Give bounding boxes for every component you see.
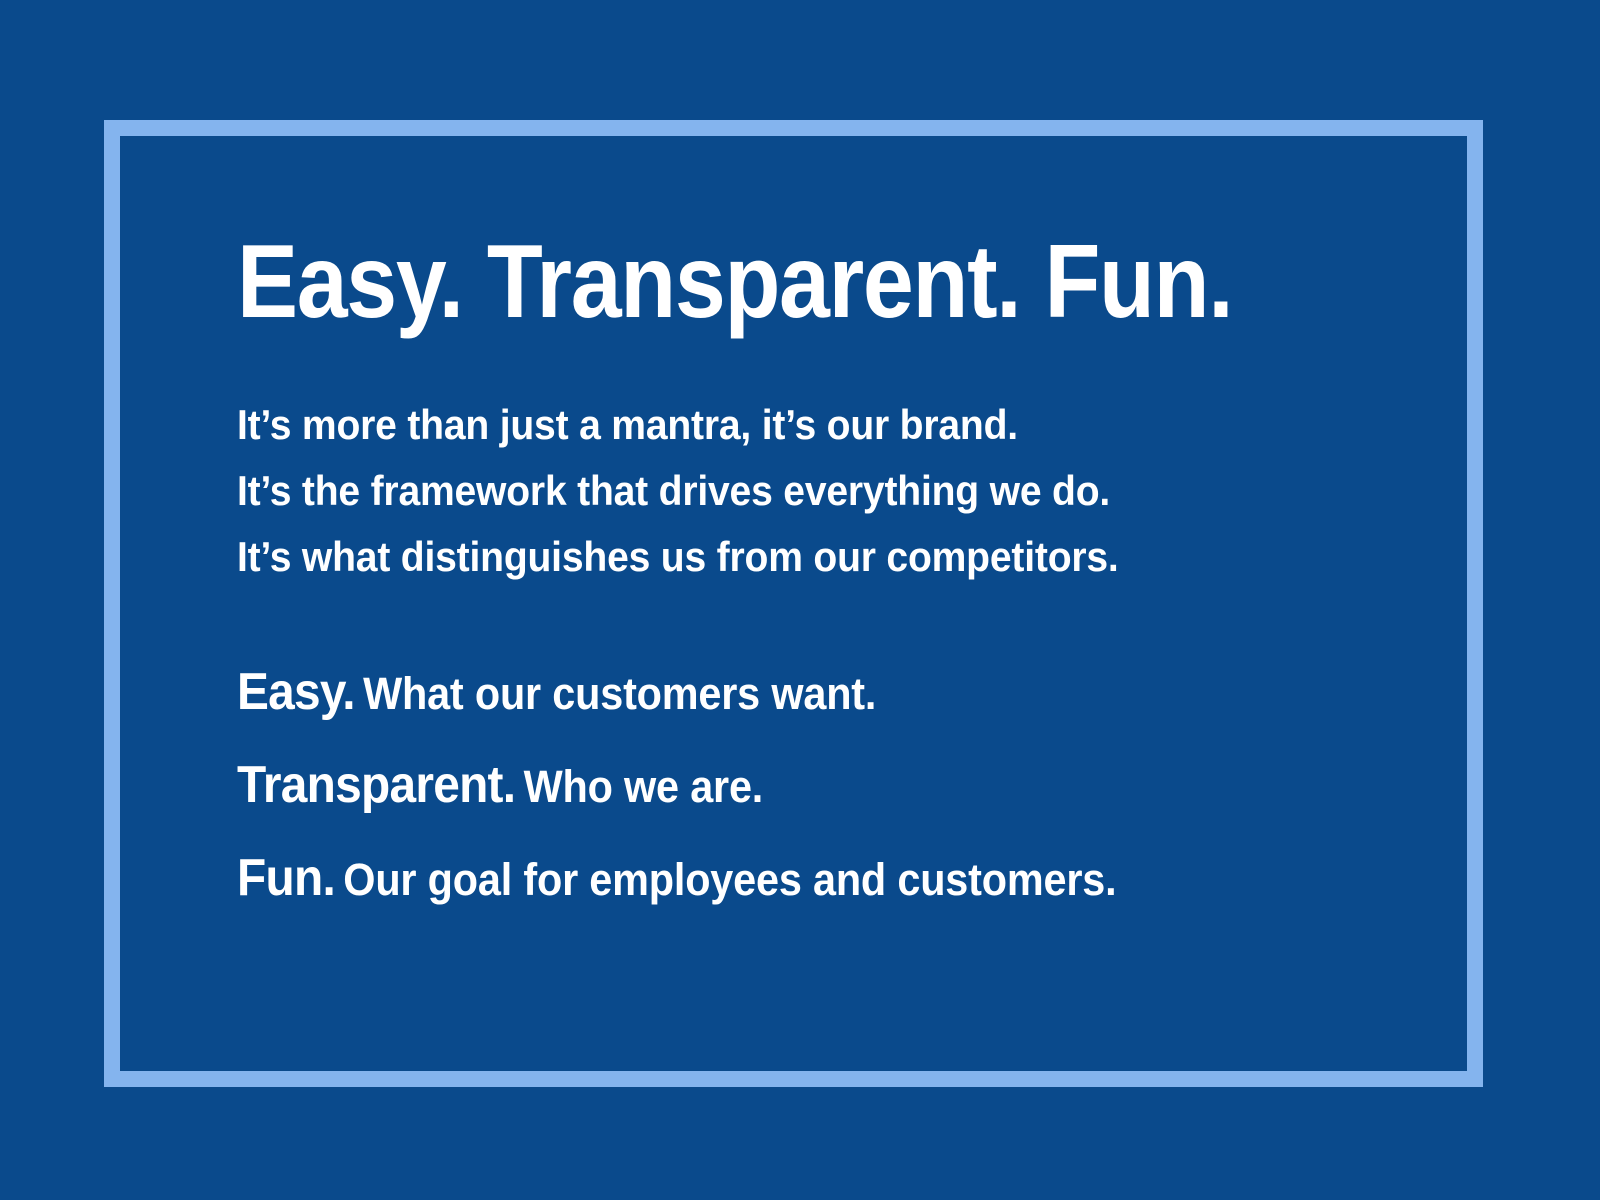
intro-paragraph: It’s more than just a mantra, it’s our b… bbox=[237, 334, 1397, 590]
definition-term-transparent: Transparent. bbox=[237, 756, 515, 814]
intro-line-1: It’s more than just a mantra, it’s our b… bbox=[237, 392, 1316, 458]
definition-item-fun: Fun.Our goal for employees and customers… bbox=[237, 838, 1304, 931]
page-title: Easy. Transparent. Fun. bbox=[237, 230, 1258, 334]
intro-line-2: It’s the framework that drives everythin… bbox=[237, 458, 1316, 524]
definitions-list: Easy.What our customers want. Transparen… bbox=[237, 590, 1397, 931]
definition-term-easy: Easy. bbox=[237, 663, 355, 721]
brand-mantra-slide: Easy. Transparent. Fun. It’s more than j… bbox=[0, 0, 1600, 1200]
intro-line-3: It’s what distinguishes us from our comp… bbox=[237, 524, 1316, 590]
definition-description-easy: What our customers want. bbox=[363, 668, 876, 719]
definition-description-transparent: Who we are. bbox=[524, 761, 764, 812]
slide-content: Easy. Transparent. Fun. It’s more than j… bbox=[237, 230, 1397, 931]
definition-description-fun: Our goal for employees and customers. bbox=[343, 854, 1116, 905]
definition-item-transparent: Transparent.Who we are. bbox=[237, 745, 1304, 838]
definition-term-fun: Fun. bbox=[237, 849, 335, 907]
definition-item-easy: Easy.What our customers want. bbox=[237, 652, 1304, 745]
